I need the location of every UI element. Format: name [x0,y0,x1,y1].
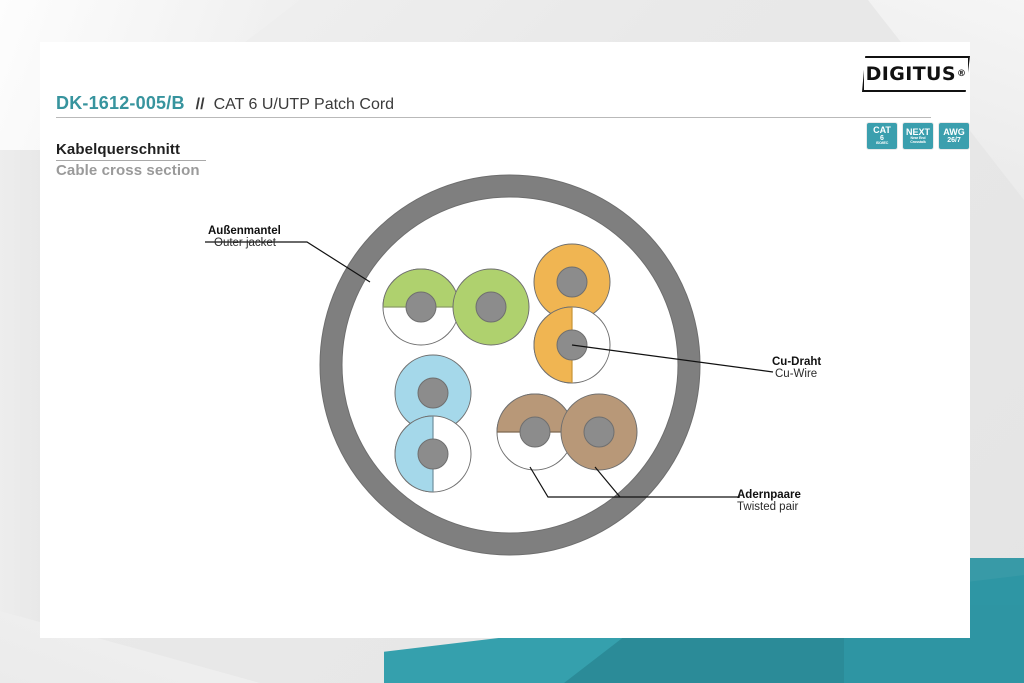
outer-jacket-inner-edge [342,197,678,533]
annotation-twisted-pair-en: Twisted pair [737,501,801,513]
brown-solid-wire [561,394,637,470]
blue-pair [395,355,471,492]
copper-core [520,417,550,447]
orange-pair [534,244,610,383]
annotation-twisted-pair-de: Adernpaare [737,489,801,501]
blue-white-wire [395,416,471,492]
annotation-outer-jacket-en: Outer jacket [214,237,281,249]
copper-core [476,292,506,322]
copper-core [418,378,448,408]
annotation-outer-jacket: Außenmantel Outer jacket [208,225,281,249]
annotation-cu-wire: Cu-Draht Cu-Wire [772,356,821,380]
copper-core [418,439,448,469]
green-white-wire [383,269,459,345]
slide-canvas: DK-1612-005/B // CAT 6 U/UTP Patch Cord … [0,0,1024,683]
outer-jacket-ring [331,186,689,544]
copper-core [557,267,587,297]
copper-core [406,292,436,322]
annotation-outer-jacket-de: Außenmantel [208,225,281,237]
annotation-twisted-pair: Adernpaare Twisted pair [737,489,801,513]
annotation-cu-wire-en: Cu-Wire [775,368,821,380]
green-pair [383,269,529,345]
copper-core [584,417,614,447]
green-solid-wire [453,269,529,345]
annotation-cu-wire-de: Cu-Draht [772,356,821,368]
brown-pair [497,394,637,470]
cable-cross-section-diagram [40,42,970,638]
leader-line-twisted-pair-b [595,467,620,497]
